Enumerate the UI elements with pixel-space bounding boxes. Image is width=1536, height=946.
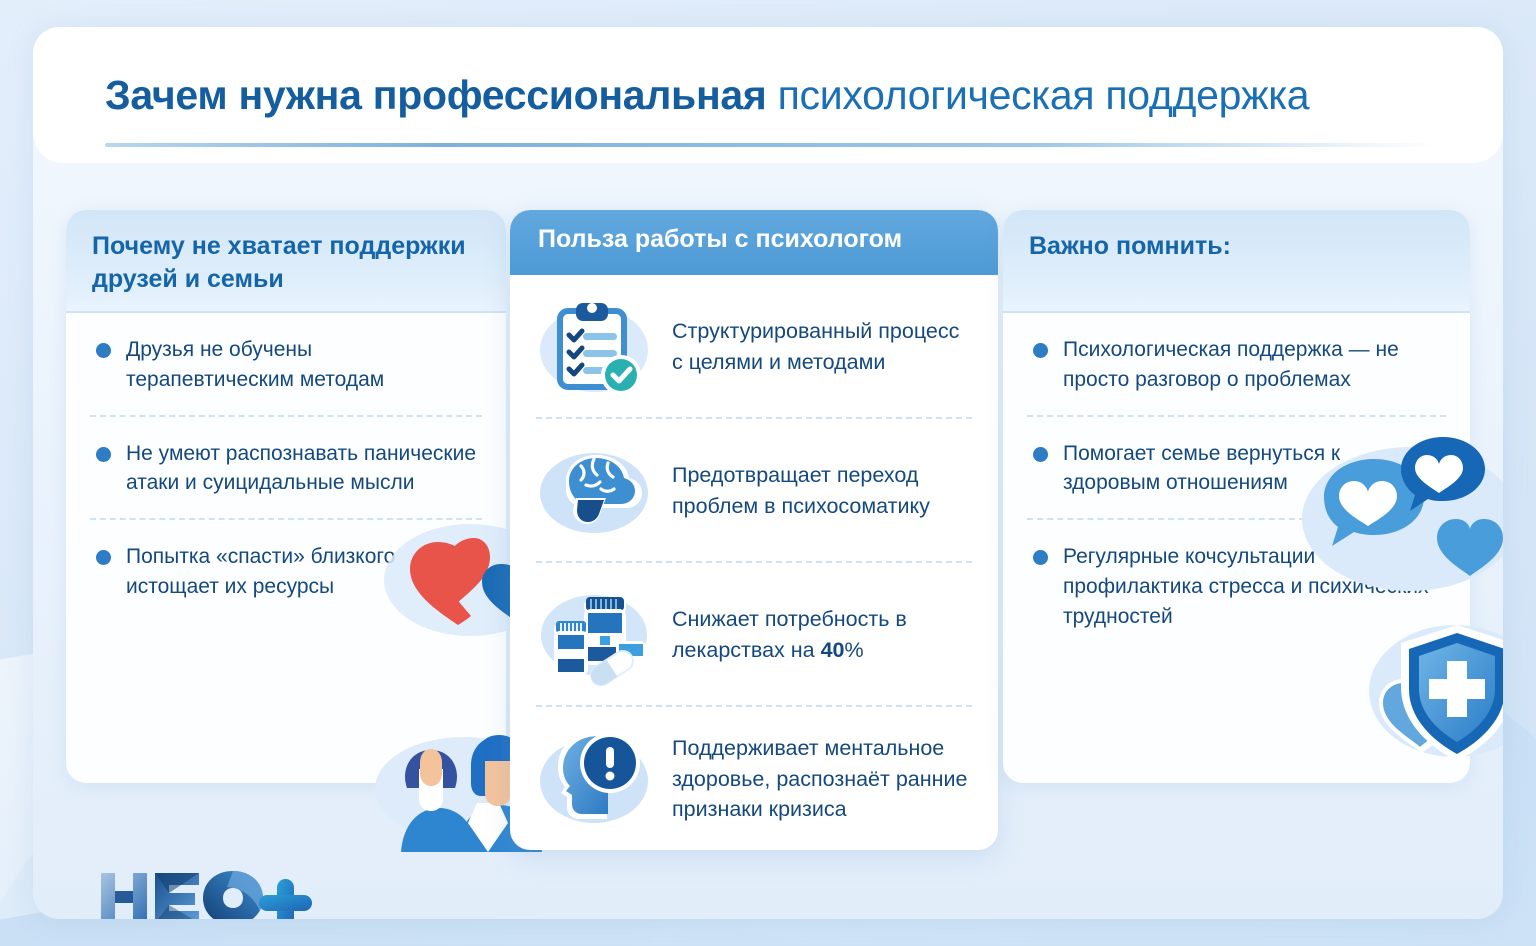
column-benefits-of-psychologist: Польза работы с психологом [510, 210, 998, 850]
infographic-container: Зачем нужна профессиональная психологиче… [33, 27, 1503, 919]
list-item: Предотвращает переход проблем в психосом… [536, 417, 972, 561]
list-item: Регулярные кочсультации — профилактика с… [1027, 518, 1446, 651]
list-item-text: Поддерживает ментальное здоровье, распоз… [672, 736, 967, 821]
page-background: Зачем нужна профессиональная психологиче… [0, 0, 1536, 946]
left-column-list: Друзья не обучены терапевтическим метода… [66, 313, 506, 622]
page-title: Зачем нужна профессиональная психологиче… [105, 73, 1463, 118]
right-column-header: Важно помнить: [1003, 210, 1470, 313]
bullet-dot-icon [96, 343, 111, 358]
list-item-label: Не умеют распознавать панические атаки и… [126, 439, 478, 499]
list-item-label: Структурированный процесс с целями и мет… [672, 316, 970, 377]
list-item: Не умеют распознавать панические атаки и… [90, 415, 482, 519]
list-item-label: Регулярные кочсультации — профилактика с… [1063, 542, 1442, 631]
list-item-label: Снижает потребность в лекарствах на 40% [672, 604, 970, 665]
bullet-dot-icon [1033, 447, 1048, 462]
list-item-text: Структурированный процесс с целями и мет… [672, 319, 959, 374]
page-title-light: психологическая поддержка [767, 72, 1310, 118]
list-item-highlight: 40 [821, 638, 845, 662]
head-alert-icon [538, 727, 656, 831]
column-why-friends-not-enough: Почему не хватает поддержки друзей и сем… [66, 210, 506, 783]
list-item-text: Снижает потребность в лекарствах на [672, 607, 907, 662]
header-band: Зачем нужна профессиональная психологиче… [33, 27, 1503, 163]
list-item: Друзья не обучены терапевтическим метода… [90, 313, 482, 415]
list-item: Структурированный процесс с целями и мет… [536, 275, 972, 417]
list-item: Попытка «спасти» близкого истощает их ре… [90, 518, 482, 622]
clipboard-checklist-icon [538, 295, 656, 399]
list-item-suffix: % [844, 638, 863, 662]
bullet-dot-icon [1033, 343, 1048, 358]
bullet-dot-icon [96, 447, 111, 462]
list-item-label: Друзья не обучены терапевтическим метода… [126, 335, 478, 395]
list-item-label: Поддерживает ментальное здоровье, распоз… [672, 733, 970, 825]
bullet-dot-icon [96, 550, 111, 565]
left-column-header: Почему не хватает поддержки друзей и сем… [66, 210, 506, 313]
list-item-text: Предотвращает переход проблем в психосом… [672, 463, 930, 518]
middle-column-list: Структурированный процесс с целями и мет… [510, 275, 998, 849]
list-item: Снижает потребность в лекарствах на 40% [536, 561, 972, 705]
brain-icon [538, 439, 656, 543]
list-item-label: Помогает семье вернуться к здоровым отно… [1063, 439, 1442, 499]
right-column-list: Психологическая поддержка — не просто ра… [1003, 313, 1470, 652]
brand-logo-neo-plus [99, 867, 329, 919]
list-item: Помогает семье вернуться к здоровым отно… [1027, 415, 1446, 519]
list-item-label: Психологическая поддержка — не просто ра… [1063, 335, 1442, 395]
pills-bottles-icon [538, 583, 656, 687]
list-item-label: Предотвращает переход проблем в психосом… [672, 460, 970, 521]
column-important-to-remember: Важно помнить: Психологическая поддержка… [1003, 210, 1470, 783]
bullet-dot-icon [1033, 550, 1048, 565]
middle-column-header: Польза работы с психологом [510, 210, 998, 275]
list-item-label: Попытка «спасти» близкого истощает их ре… [126, 542, 478, 602]
page-title-strong: Зачем нужна профессиональная [105, 72, 767, 118]
list-item: Психологическая поддержка — не просто ра… [1027, 313, 1446, 415]
list-item: Поддерживает ментальное здоровье, распоз… [536, 705, 972, 849]
title-underline [105, 143, 1435, 147]
